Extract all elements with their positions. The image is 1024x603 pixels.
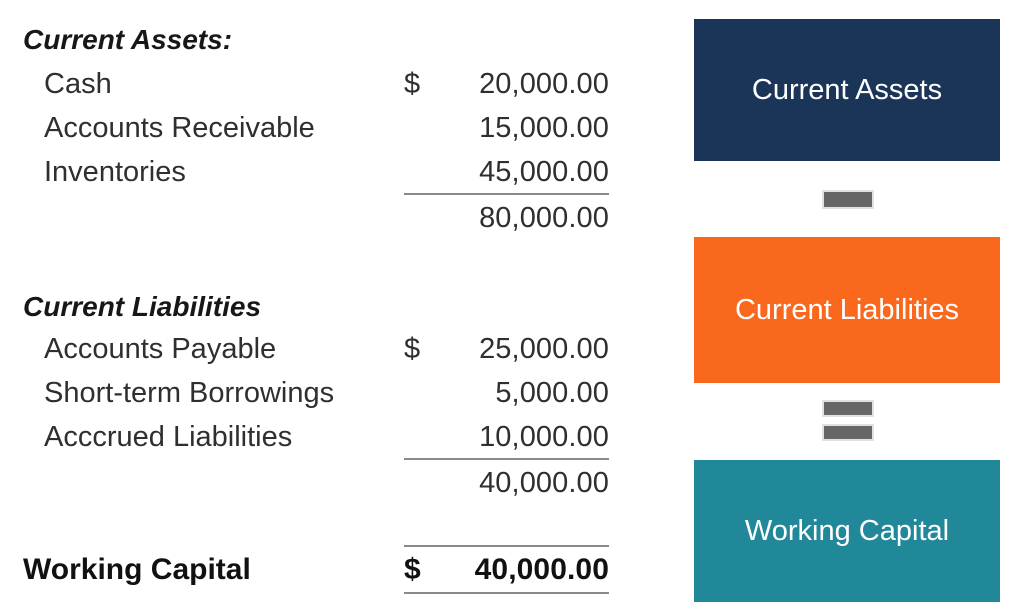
amount-accounts-payable: 25,000.00 <box>479 333 609 366</box>
amount-cell-inventories: 45,000.00 <box>404 150 609 194</box>
grand-total-row-working-capital: Working Capital $ 40,000.00 <box>0 548 640 592</box>
diagram-block-label-current-liabilities: Current Liabilities <box>735 294 959 327</box>
line-item-label-inventories: Inventories <box>44 156 186 189</box>
amount-short-term-borrowings: 5,000.00 <box>495 377 609 410</box>
currency-symbol-accounts-payable: $ <box>404 327 420 371</box>
amount-cell-accounts-payable: $ 25,000.00 <box>404 327 609 371</box>
amount-cell-working-capital-total: $ 40,000.00 <box>404 548 609 592</box>
currency-symbol-working-capital-total: $ <box>404 548 421 592</box>
working-capital-worksheet: Current Assets: Cash $ 20,000.00 Account… <box>0 0 660 603</box>
line-item-label-accounts-payable: Accounts Payable <box>44 333 276 366</box>
diagram-block-label-working-capital: Working Capital <box>745 515 949 548</box>
section-heading-current-assets: Current Assets: <box>23 24 232 56</box>
amount-working-capital-total: 40,000.00 <box>475 553 609 587</box>
line-item-label-short-term-borrowings: Short-term Borrowings <box>44 377 334 410</box>
subtotal-rule-current-liabilities <box>404 458 609 460</box>
line-item-accounts-receivable: Accounts Receivable 15,000.00 <box>0 106 640 150</box>
grand-total-rule-top <box>404 545 609 547</box>
amount-cell-short-term-borrowings: 5,000.00 <box>404 371 609 415</box>
amount-cell-current-assets-subtotal: 80,000.00 <box>404 196 609 240</box>
amount-cell-accrued-liabilities: 10,000.00 <box>404 415 609 459</box>
section-heading-current-liabilities: Current Liabilities <box>23 291 261 323</box>
diagram-block-label-current-assets: Current Assets <box>752 74 942 107</box>
equals-operator-icon-bottom-bar <box>822 424 874 441</box>
equals-operator-icon-top-bar <box>822 400 874 417</box>
amount-current-assets-subtotal: 80,000.00 <box>479 202 609 235</box>
subtotal-row-current-assets: 80,000.00 <box>0 196 640 240</box>
grand-total-rule-bottom <box>404 592 609 594</box>
diagram-block-current-liabilities: Current Liabilities <box>694 237 1000 383</box>
line-item-label-accrued-liabilities: Acccrued Liabilities <box>44 421 292 454</box>
amount-cell-current-liabilities-subtotal: 40,000.00 <box>404 461 609 505</box>
line-item-label-accounts-receivable: Accounts Receivable <box>44 112 315 145</box>
line-item-inventories: Inventories 45,000.00 <box>0 150 640 194</box>
subtotal-rule-current-assets <box>404 193 609 195</box>
line-item-accounts-payable: Accounts Payable $ 25,000.00 <box>0 327 640 371</box>
line-item-short-term-borrowings: Short-term Borrowings 5,000.00 <box>0 371 640 415</box>
section-heading-row-current-liabilities: Current Liabilities <box>0 285 640 329</box>
currency-symbol-cash: $ <box>404 62 420 106</box>
line-item-accrued-liabilities: Acccrued Liabilities 10,000.00 <box>0 415 640 459</box>
amount-cash: 20,000.00 <box>479 68 609 101</box>
line-item-label-cash: Cash <box>44 68 112 101</box>
line-item-cash: Cash $ 20,000.00 <box>0 62 640 106</box>
amount-accounts-receivable: 15,000.00 <box>479 112 609 145</box>
minus-operator-icon <box>822 190 874 209</box>
amount-inventories: 45,000.00 <box>479 156 609 189</box>
amount-cell-cash: $ 20,000.00 <box>404 62 609 106</box>
amount-current-liabilities-subtotal: 40,000.00 <box>479 467 609 500</box>
section-heading-row-current-assets: Current Assets: <box>0 18 640 62</box>
working-capital-illustration: Current Assets: Cash $ 20,000.00 Account… <box>0 0 1024 603</box>
amount-cell-accounts-receivable: 15,000.00 <box>404 106 609 150</box>
subtotal-row-current-liabilities: 40,000.00 <box>0 461 640 505</box>
diagram-block-working-capital: Working Capital <box>694 460 1000 602</box>
amount-accrued-liabilities: 10,000.00 <box>479 421 609 454</box>
diagram-block-current-assets: Current Assets <box>694 19 1000 161</box>
grand-total-label-working-capital: Working Capital <box>23 553 251 587</box>
